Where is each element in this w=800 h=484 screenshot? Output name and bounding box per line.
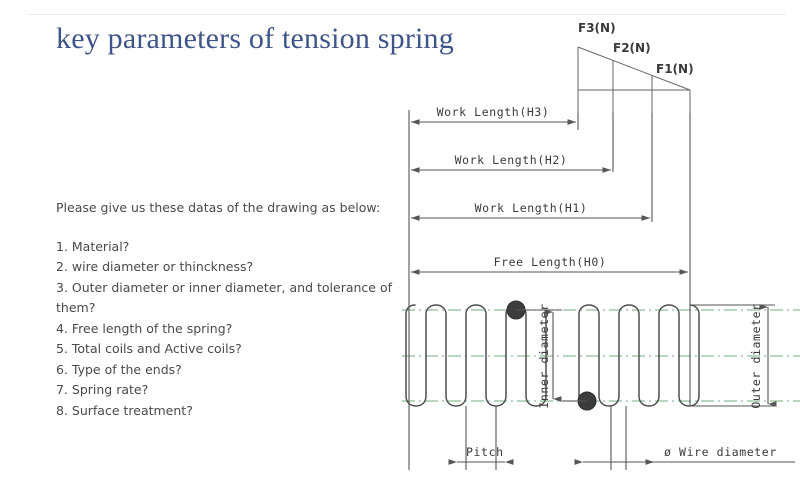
dimension-label-h2: Work Length(H2) (455, 153, 568, 167)
spring-coil-left (406, 301, 546, 406)
dimension-lines: Work Length(H3) Work Length(H2) Work Len… (411, 105, 688, 272)
pitch-dimension: Pitch (457, 406, 505, 470)
dimension-label-h0: Free Length(H0) (494, 255, 607, 269)
wire-diameter-label: ø Wire diameter (664, 445, 777, 459)
centerlines (402, 310, 800, 401)
inner-diameter-label: Inner diameter (537, 303, 551, 408)
dimension-label-h1: Work Length(H1) (475, 201, 588, 215)
outer-diameter-label: Outer diameter (749, 303, 763, 408)
force-label-f1: F1(N) (656, 62, 694, 76)
pitch-label: Pitch (466, 445, 504, 459)
wire-diameter-dimension: ø Wire diameter (583, 406, 795, 470)
tension-spring-technical-drawing: F3(N) F2(N) F1(N) Work Length(H3) Work L… (0, 0, 800, 484)
force-diagram: F3(N) F2(N) F1(N) (578, 21, 694, 113)
dimension-label-h3: Work Length(H3) (437, 105, 550, 119)
slide-canvas: key parameters of tension spring Please … (0, 0, 800, 484)
spring-coil-right (578, 305, 699, 410)
force-label-f2: F2(N) (613, 41, 651, 55)
force-label-f3: F3(N) (578, 21, 616, 35)
